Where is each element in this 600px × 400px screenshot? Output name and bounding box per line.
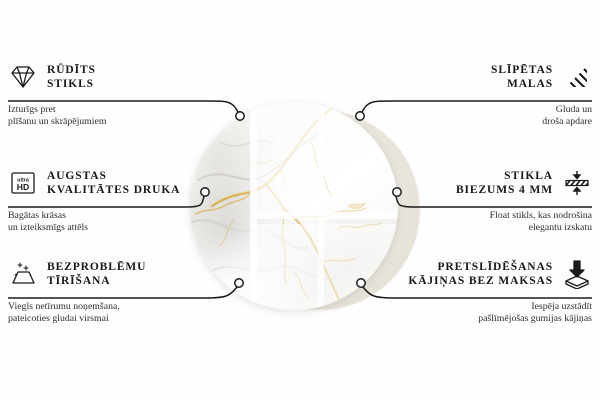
feature-description: Viegls netīrumu noņemšana, pateicoties g… bbox=[8, 301, 250, 326]
feature-polished-edges: SLĪPĒTAS MALAS Gluda un droša apdare bbox=[350, 57, 592, 129]
feature-title-line1: PRETSLĪDĒŠANAS bbox=[438, 261, 554, 273]
feature-tempered-glass: RŪDĪTS STIKLS Izturīgs pret plīšanu un s… bbox=[8, 57, 250, 129]
thickness-arrows-icon bbox=[562, 168, 592, 198]
ultra-hd-icon: ultra HD bbox=[8, 168, 38, 198]
feature-desc-line2: elegantu izskatu bbox=[350, 222, 592, 234]
feature-title-line2: KVALITĀTES DRUKA bbox=[47, 183, 180, 197]
feature-header: BEZPROBLĒMU TĪRĪŠANA bbox=[8, 254, 250, 294]
feature-title-line2: TĪRĪŠANA bbox=[47, 274, 146, 288]
press-pad-icon bbox=[562, 259, 592, 289]
feature-title: BEZPROBLĒMU TĪRĪŠANA bbox=[47, 260, 146, 288]
feature-desc-line1: Gluda un bbox=[556, 104, 592, 115]
feature-desc-line1: Izturīgs pret bbox=[8, 104, 56, 115]
feature-title: STIKLA BIEZUMS 4 MM bbox=[456, 169, 553, 197]
infographic-canvas: RŪDĪTS STIKLS Izturīgs pret plīšanu un s… bbox=[0, 0, 600, 400]
feature-description: Float stikls, kas nodrošina elegantu izs… bbox=[350, 210, 592, 235]
feature-description: Gluda un droša apdare bbox=[350, 104, 592, 129]
sparkle-polish-icon bbox=[8, 259, 38, 289]
feature-desc-line1: Viegls netīrumu noņemšana, bbox=[8, 301, 120, 312]
feature-desc-line1: Bagātas krāsas bbox=[8, 210, 66, 221]
feature-title: SLĪPĒTAS MALAS bbox=[491, 63, 553, 91]
feature-header: RŪDĪTS STIKLS bbox=[8, 57, 250, 97]
feature-header: ultra HD AUGSTAS KVALITĀTES DRUKA bbox=[8, 163, 250, 203]
feature-title: AUGSTAS KVALITĀTES DRUKA bbox=[47, 169, 180, 197]
feature-title: RŪDĪTS STIKLS bbox=[47, 63, 96, 91]
feature-high-quality-print: ultra HD AUGSTAS KVALITĀTES DRUKA Bagāta… bbox=[8, 163, 250, 235]
feature-desc-line2: pateicoties gludai virsmai bbox=[8, 313, 250, 325]
feature-description: Bagātas krāsas un izteiksmīgs attēls bbox=[8, 210, 250, 235]
diamond-icon bbox=[8, 62, 38, 92]
feature-desc-line2: pašlīmējošas gumijas kājiņas bbox=[350, 313, 592, 325]
feature-title-line1: AUGSTAS bbox=[47, 170, 107, 182]
feature-title: PRETSLĪDĒŠANAS KĀJIŅAS BEZ MAKSAS bbox=[408, 260, 553, 288]
feature-title-line1: STIKLA bbox=[504, 170, 553, 182]
feature-header: PRETSLĪDĒŠANAS KĀJIŅAS BEZ MAKSAS bbox=[350, 254, 592, 294]
feature-desc-line1: Float stikls, kas nodrošina bbox=[490, 210, 592, 221]
feature-title-line2: BIEZUMS 4 MM bbox=[456, 183, 553, 197]
feature-desc-line2: plīšanu un skrāpējumiem bbox=[8, 116, 250, 128]
feature-title-line1: SLĪPĒTAS bbox=[491, 64, 553, 76]
feature-title-line1: BEZPROBLĒMU bbox=[47, 261, 146, 273]
feature-header: STIKLA BIEZUMS 4 MM bbox=[350, 163, 592, 203]
feature-title-line1: RŪDĪTS bbox=[47, 64, 96, 76]
feature-header: SLĪPĒTAS MALAS bbox=[350, 57, 592, 97]
feature-desc-line1: Iespēja uzstādīt bbox=[531, 301, 592, 312]
feature-title-line2: MALAS bbox=[491, 77, 553, 91]
feature-easy-cleaning: BEZPROBLĒMU TĪRĪŠANA Viegls netīrumu noņ… bbox=[8, 254, 250, 326]
ultra-hd-icon-label-bottom: HD bbox=[17, 182, 29, 192]
feature-desc-line2: droša apdare bbox=[350, 116, 592, 128]
feature-description: Iespēja uzstādīt pašlīmējošas gumijas kā… bbox=[350, 301, 592, 326]
feature-anti-slip-feet: PRETSLĪDĒŠANAS KĀJIŅAS BEZ MAKSAS Iespēj… bbox=[350, 254, 592, 326]
feature-title-line2: STIKLS bbox=[47, 77, 96, 91]
feature-description: Izturīgs pret plīšanu un skrāpējumiem bbox=[8, 104, 250, 129]
feature-desc-line2: un izteiksmīgs attēls bbox=[8, 222, 250, 234]
feature-glass-thickness: STIKLA BIEZUMS 4 MM Float stikls, kas no… bbox=[350, 163, 592, 235]
feature-title-line2: KĀJIŅAS BEZ MAKSAS bbox=[408, 274, 553, 288]
hatched-edge-icon bbox=[562, 62, 592, 92]
